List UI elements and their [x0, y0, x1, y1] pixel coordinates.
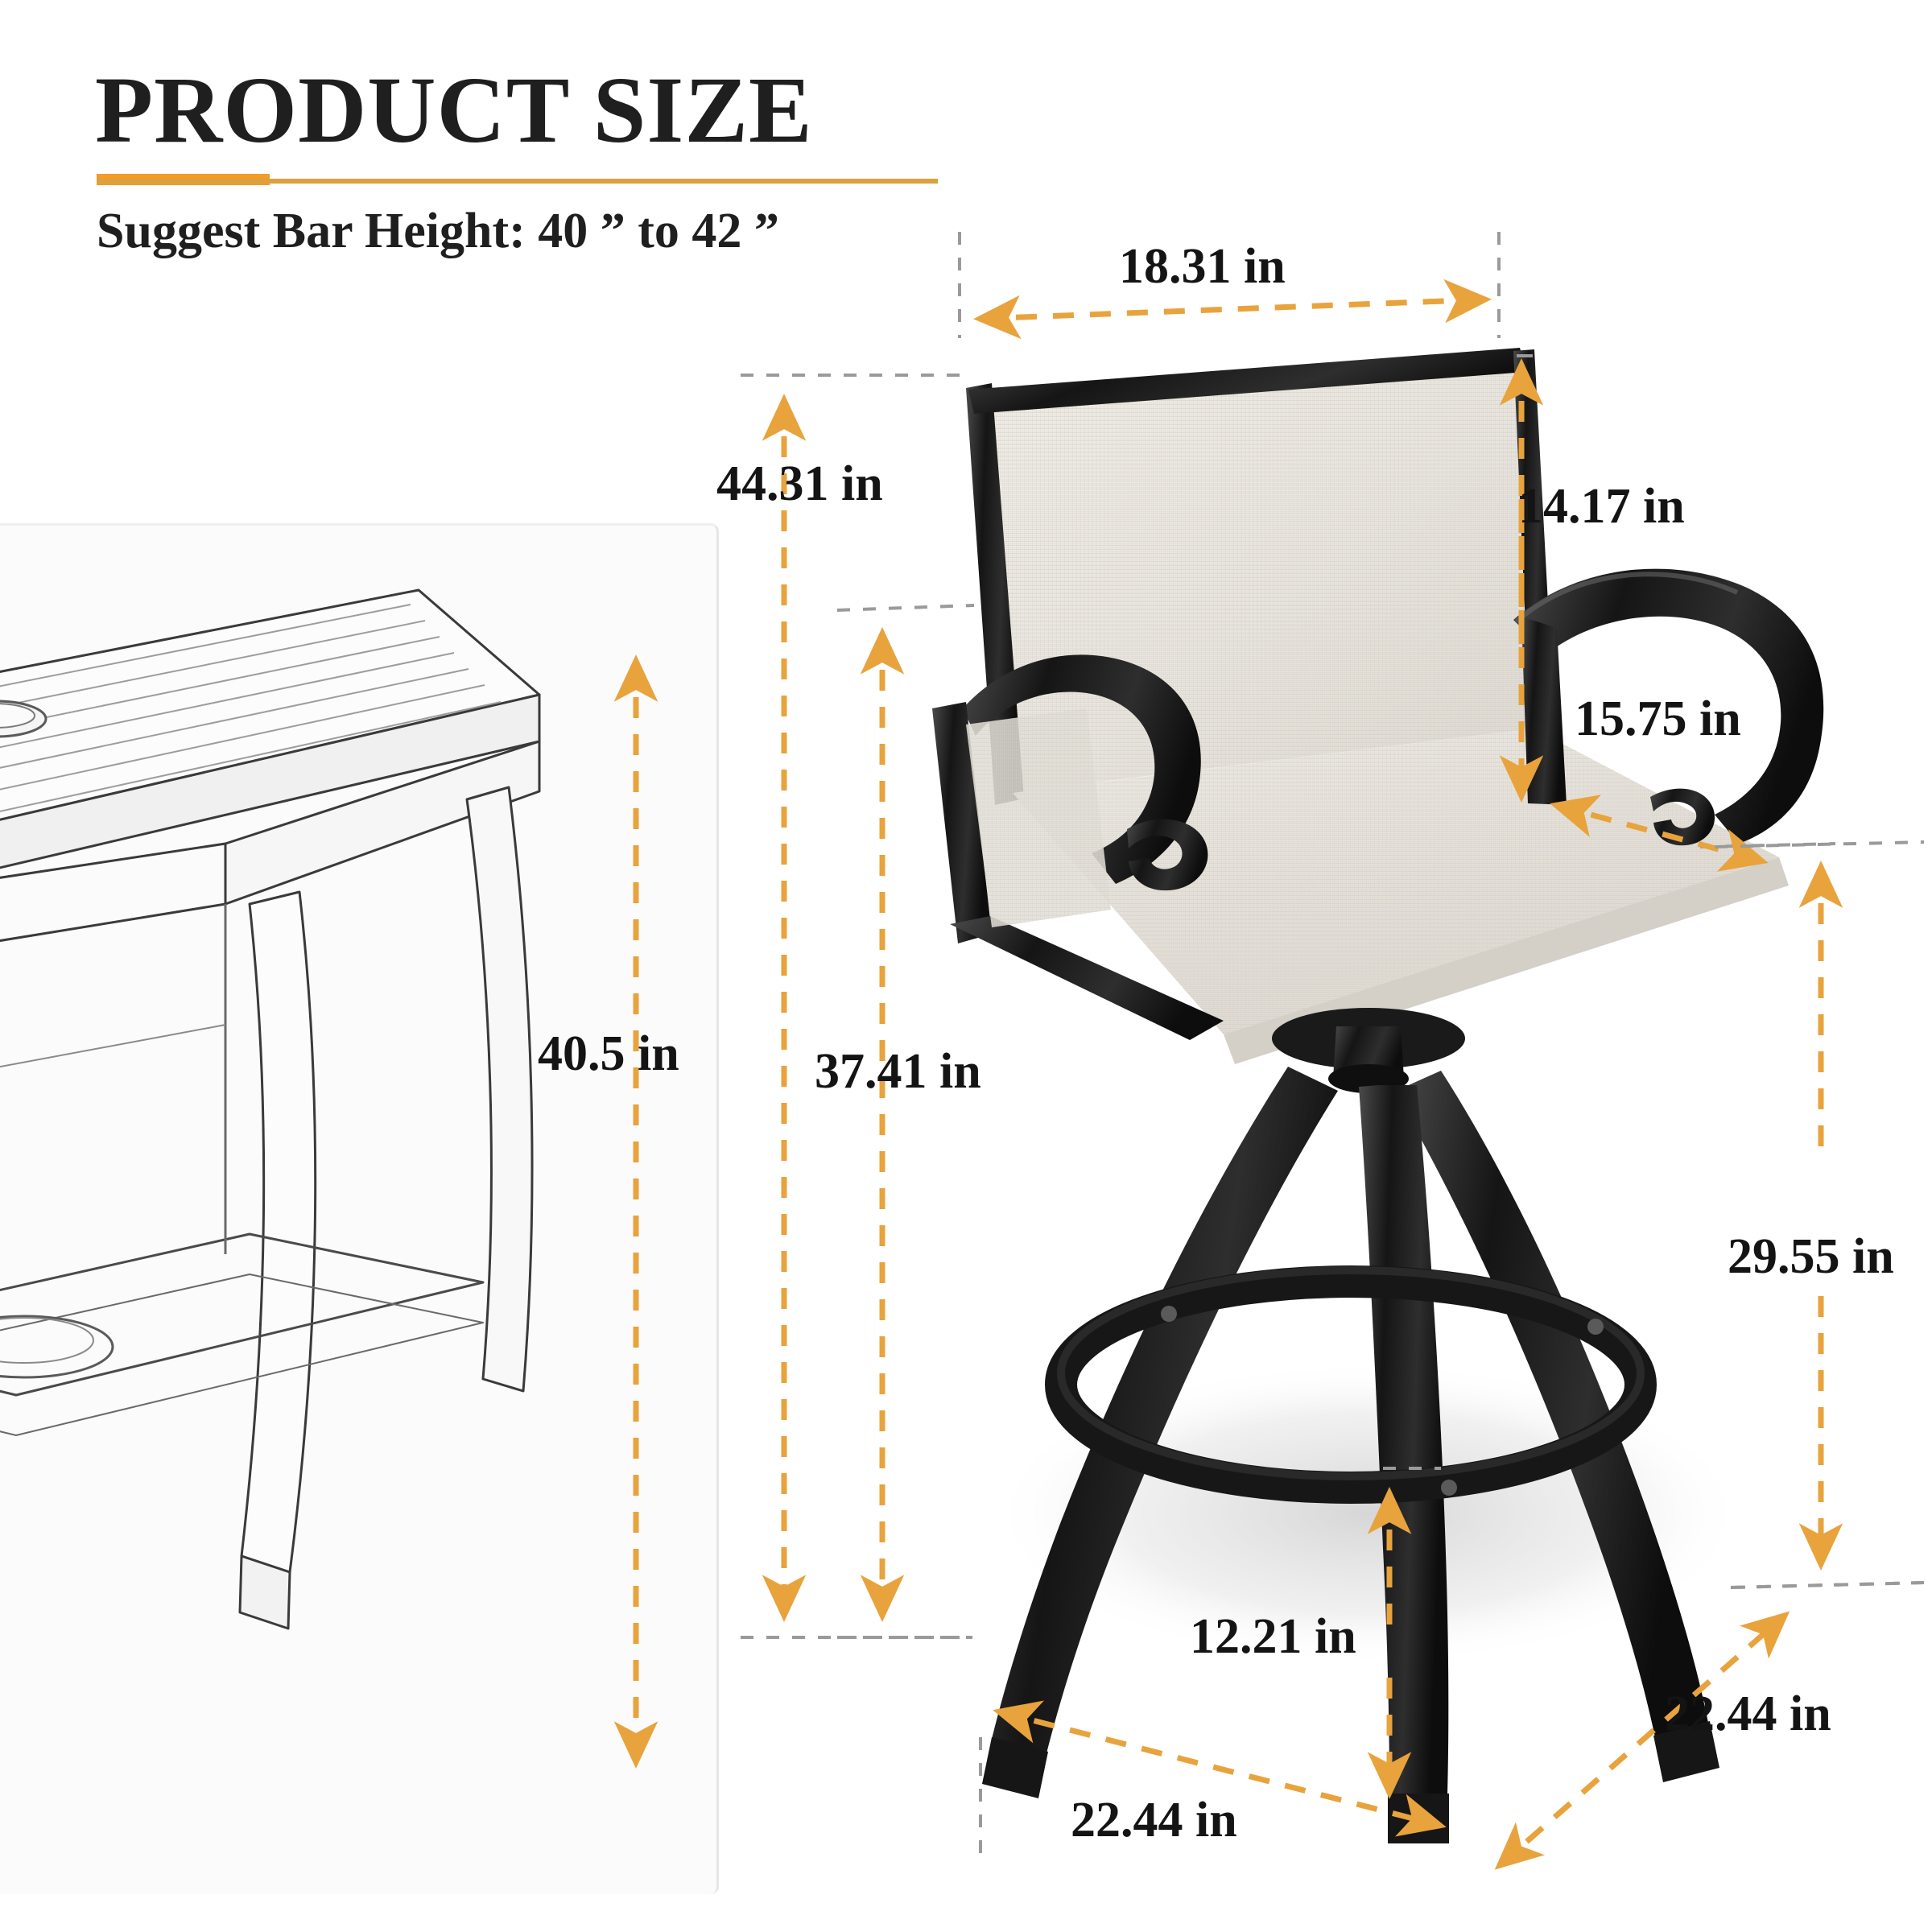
- dimension-label-backrest-height: 14.17 in: [1518, 481, 1685, 531]
- dimension-label-seat-height: 29.55 in: [1728, 1232, 1894, 1282]
- dimension-label-base-width: 22.44 in: [1071, 1795, 1237, 1845]
- dimension-label-height-overall: 44.31 in: [716, 459, 883, 509]
- dimension-label-table-height: 40.5 in: [538, 1029, 679, 1079]
- dimension-line-height-overall: [741, 375, 972, 1637]
- dimension-line-seat-height: [1715, 842, 1924, 1587]
- dimension-label-height-to-arm: 37.41 in: [815, 1046, 981, 1096]
- dimension-label-footring-height: 12.21 in: [1190, 1612, 1356, 1662]
- dimension-label-width-overall: 18.31 in: [1119, 242, 1286, 291]
- dimension-label-seat-depth: 15.75 in: [1575, 694, 1741, 744]
- infographic-canvas: PRODUCT SIZE Suggest Bar Height: 40 ” to…: [0, 0, 1932, 1932]
- dimension-label-base-depth: 22.44 in: [1665, 1689, 1831, 1739]
- chair-and-dimensions-overlay: [0, 0, 1932, 1932]
